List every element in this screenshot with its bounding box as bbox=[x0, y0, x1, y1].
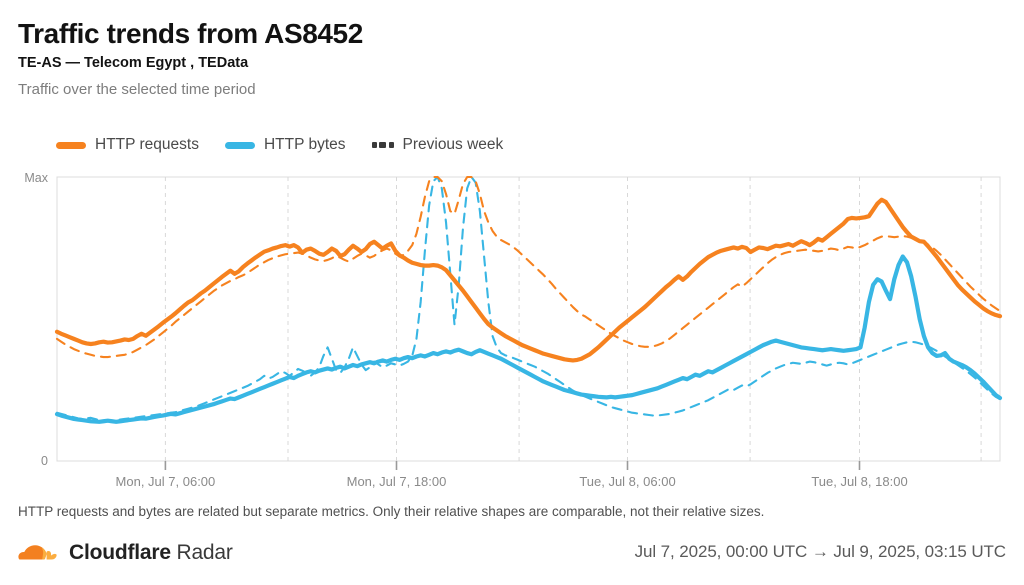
legend-swatch-http-requests bbox=[56, 142, 86, 149]
legend-label-http-requests: HTTP requests bbox=[95, 137, 199, 153]
legend-item-http-bytes[interactable]: HTTP bytes bbox=[225, 137, 346, 153]
legend-item-http-requests[interactable]: HTTP requests bbox=[56, 137, 199, 153]
y-axis-max-label: Max bbox=[24, 171, 48, 185]
radar-traffic-chart-card: Traffic trends from AS8452 TE-AS — Telec… bbox=[0, 0, 1024, 585]
legend-label-http-bytes: HTTP bytes bbox=[264, 137, 346, 153]
time-range-label: Jul 7, 2025, 00:00 UTC → Jul 9, 2025, 03… bbox=[635, 542, 1006, 562]
legend-swatch-previous-week bbox=[372, 142, 394, 148]
chart-description: Traffic over the selected time period bbox=[18, 81, 1008, 99]
x-axis-tick-label: Tue, Jul 8, 18:00 bbox=[811, 474, 907, 489]
legend-label-previous-week: Previous week bbox=[403, 137, 504, 153]
brand-wordmark: Cloudflare Radar bbox=[69, 542, 233, 563]
cloudflare-radar-brand: Cloudflare Radar bbox=[18, 539, 233, 565]
series-line bbox=[57, 200, 1000, 361]
x-axis-tick-label: Mon, Jul 7, 18:00 bbox=[347, 474, 447, 489]
x-axis-tick-label: Mon, Jul 7, 06:00 bbox=[116, 474, 216, 489]
x-axis-ticks bbox=[165, 461, 859, 470]
chart-area: Max 0 Mon, Jul 7, 06:00Mon, Jul 7, 18:00… bbox=[0, 166, 1024, 496]
chart-footnote: HTTP requests and bytes are related but … bbox=[18, 503, 764, 521]
series-line bbox=[57, 177, 1000, 421]
asn-subtitle: TE-AS — Telecom Egypt , TEData bbox=[18, 55, 1008, 72]
x-axis-tick-labels: Mon, Jul 7, 06:00Mon, Jul 7, 18:00Tue, J… bbox=[116, 474, 908, 489]
chart-legend: HTTP requests HTTP bytes Previous week bbox=[56, 134, 503, 156]
chart-header: Traffic trends from AS8452 TE-AS — Telec… bbox=[18, 18, 1008, 99]
chart-series-layer bbox=[57, 177, 1000, 422]
series-line bbox=[57, 257, 1000, 422]
y-axis-zero-label: 0 bbox=[41, 454, 48, 468]
series-line bbox=[57, 177, 1000, 357]
legend-item-previous-week[interactable]: Previous week bbox=[372, 137, 504, 153]
page-title: Traffic trends from AS8452 bbox=[18, 18, 1008, 49]
x-axis-tick-label: Tue, Jul 8, 06:00 bbox=[579, 474, 675, 489]
legend-swatch-http-bytes bbox=[225, 142, 255, 149]
cloudflare-cloud-icon bbox=[18, 539, 58, 565]
chart-footer: Cloudflare Radar Jul 7, 2025, 00:00 UTC … bbox=[18, 534, 1006, 570]
traffic-line-chart: Max 0 Mon, Jul 7, 06:00Mon, Jul 7, 18:00… bbox=[0, 166, 1024, 496]
